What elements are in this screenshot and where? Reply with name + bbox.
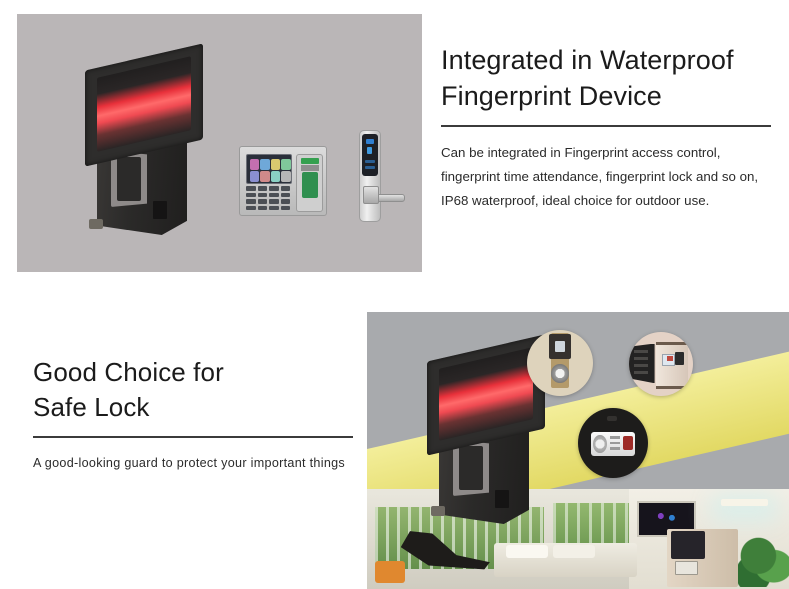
bottom-divider — [33, 436, 353, 438]
safe-fingerprint-reader — [623, 436, 633, 450]
top-text-block: Integrated in Waterproof Fingerprint Dev… — [441, 42, 771, 213]
sensor-connector-notch — [153, 201, 167, 219]
bottom-heading-line2: Safe Lock — [33, 390, 353, 425]
top-product-photo — [17, 14, 422, 272]
circle-doorbell-lock — [527, 330, 593, 396]
top-body-text: Can be integrated in Fingerprint access … — [441, 141, 771, 213]
top-divider — [441, 125, 771, 127]
terminal-fingerprint-pad — [302, 172, 318, 198]
sensor-cutout-inner — [117, 157, 141, 201]
bottom-text-block: Good Choice for Safe Lock A good-looking… — [33, 355, 353, 475]
safe-keypad — [675, 561, 698, 575]
collage-sensor-connector-notch — [495, 490, 509, 508]
time-attendance-terminal — [239, 146, 327, 216]
ceiling-light — [721, 499, 767, 506]
terminal-screen — [246, 154, 292, 184]
top-heading-line1: Integrated in Waterproof — [441, 42, 771, 78]
circle-safe-box-dial — [578, 408, 648, 478]
orange-accent-object — [375, 561, 405, 583]
circle-keypad-door-lock — [629, 332, 693, 396]
top-heading-line2: Fingerprint Device — [441, 78, 771, 114]
fingerprint-sensor-module — [61, 39, 211, 244]
doorbell-knob — [551, 364, 569, 382]
terminal-vent-rows — [301, 165, 319, 171]
bottom-application-collage — [367, 312, 789, 589]
fingerprint-door-lock — [359, 130, 381, 222]
terminal-keypad — [246, 186, 290, 210]
bottom-body-text: A good-looking guard to protect your imp… — [33, 452, 353, 475]
terminal-fingerprint-reader — [296, 154, 323, 212]
door-lock-display — [362, 134, 378, 176]
pillow-right — [553, 545, 595, 558]
collage-sensor-cutout-inner — [459, 446, 483, 490]
sensor-mount-pin — [89, 219, 103, 229]
safe-reader-panel — [671, 531, 705, 559]
houseplant — [738, 535, 789, 587]
bottom-heading-line1: Good Choice for — [33, 355, 353, 390]
terminal-status-led — [301, 158, 319, 164]
door-lock-handle-base — [363, 186, 379, 204]
pillow-left — [506, 545, 548, 558]
safe-top-notch — [607, 416, 617, 421]
collage-sensor-mount-pin — [431, 506, 445, 516]
